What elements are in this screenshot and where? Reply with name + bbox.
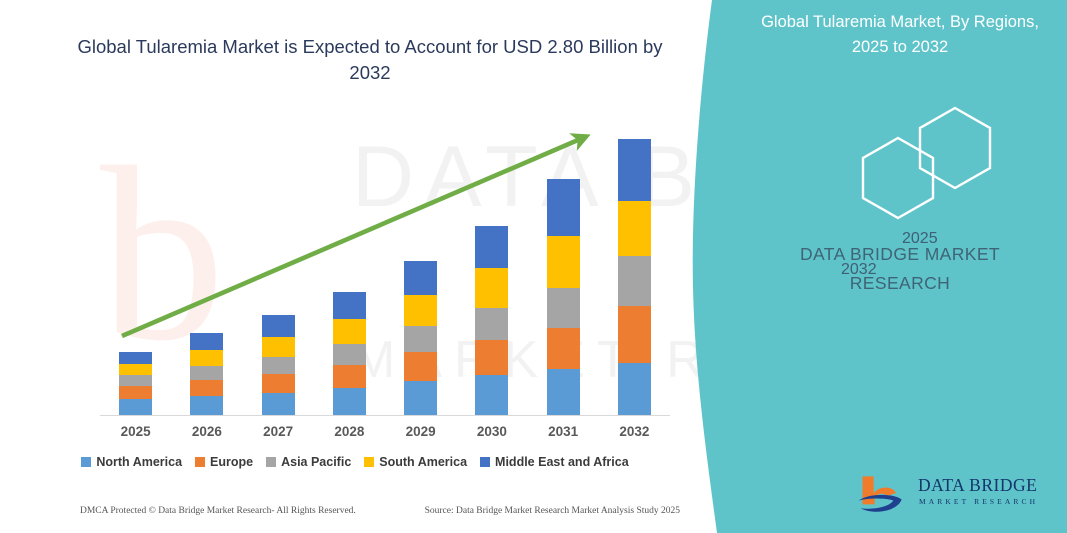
legend-label: North America (96, 455, 182, 469)
hexagon-pair: 2025 2032 (750, 100, 1050, 230)
stacked-bar-series (100, 120, 670, 415)
bar-segment[interactable] (404, 381, 437, 415)
legend-swatch-icon (364, 457, 374, 467)
x-axis-labels: 20252026202720282029203020312032 (100, 424, 670, 439)
legend-item[interactable]: Asia Pacific (266, 455, 351, 469)
bar-segment[interactable] (618, 363, 651, 415)
legend-item[interactable]: North America (81, 455, 182, 469)
x-axis-label-2030: 2030 (464, 424, 520, 439)
legend-swatch-icon (480, 457, 490, 467)
bar-segment[interactable] (547, 328, 580, 369)
bar-segment[interactable] (333, 344, 366, 365)
bar-segment[interactable] (262, 337, 295, 357)
bar-segment[interactable] (262, 393, 295, 415)
bar-segment[interactable] (333, 292, 366, 319)
bar-segment[interactable] (404, 295, 437, 326)
bar-segment[interactable] (547, 236, 580, 288)
bar-segment[interactable] (190, 350, 223, 366)
bar-segment[interactable] (262, 374, 295, 393)
panel-title: Global Tularemia Market, By Regions, 202… (745, 10, 1055, 60)
bar-segment[interactable] (119, 364, 152, 375)
bar-2029[interactable] (404, 261, 437, 415)
bar-segment[interactable] (190, 396, 223, 415)
bar-2025[interactable] (119, 352, 152, 415)
x-axis-label-2028: 2028 (321, 424, 377, 439)
bar-segment[interactable] (119, 375, 152, 386)
brand-logo-subtitle: MARKET RESEARCH (919, 497, 1038, 506)
bar-segment[interactable] (404, 352, 437, 381)
bar-2028[interactable] (333, 292, 366, 415)
bar-segment[interactable] (262, 315, 295, 337)
bar-segment[interactable] (119, 399, 152, 415)
bar-segment[interactable] (475, 340, 508, 375)
bar-segment[interactable] (404, 326, 437, 352)
bar-segment[interactable] (475, 375, 508, 415)
legend-swatch-icon (266, 457, 276, 467)
bar-segment[interactable] (618, 256, 651, 306)
infographic-canvas: b DATA BRIDGE MARKET RESEARCH Global Tul… (0, 0, 1067, 533)
bar-segment[interactable] (475, 226, 508, 268)
brand-tagline: DATA BRIDGE MARKET RESEARCH (760, 240, 1040, 298)
x-axis-line (100, 415, 670, 416)
bar-segment[interactable] (547, 369, 580, 415)
x-axis-label-2031: 2031 (535, 424, 591, 439)
legend-swatch-icon (81, 457, 91, 467)
bar-segment[interactable] (119, 386, 152, 399)
x-axis-label-2032: 2032 (606, 424, 662, 439)
legend-item[interactable]: Middle East and Africa (480, 455, 629, 469)
bar-segment[interactable] (190, 333, 223, 350)
footer: DMCA Protected © Data Bridge Market Rese… (80, 506, 680, 516)
bar-2032[interactable] (618, 139, 651, 415)
bar-2026[interactable] (190, 333, 223, 415)
bar-2027[interactable] (262, 315, 295, 415)
teal-panel-content: Global Tularemia Market, By Regions, 202… (760, 0, 1067, 533)
x-axis-label-2029: 2029 (393, 424, 449, 439)
bar-segment[interactable] (547, 179, 580, 236)
legend-item[interactable]: South America (364, 455, 467, 469)
x-axis-label-2025: 2025 (108, 424, 164, 439)
legend-label: Asia Pacific (281, 455, 351, 469)
bar-segment[interactable] (547, 288, 580, 328)
bar-segment[interactable] (119, 352, 152, 364)
brand-logo: DATA BRIDGE MARKET RESEARCH (855, 472, 1055, 524)
chart-plot-area (100, 120, 670, 416)
legend-item[interactable]: Europe (195, 455, 253, 469)
bar-segment[interactable] (618, 201, 651, 256)
legend-label: South America (379, 455, 467, 469)
legend-label: Europe (210, 455, 253, 469)
bar-segment[interactable] (190, 380, 223, 396)
bar-segment[interactable] (190, 366, 223, 380)
hexagon-outlines-icon (750, 100, 1050, 230)
page-title: Global Tularemia Market is Expected to A… (60, 34, 680, 86)
bar-segment[interactable] (262, 357, 295, 374)
bar-2030[interactable] (475, 226, 508, 415)
copyright-text: DMCA Protected © Data Bridge Market Rese… (80, 506, 356, 516)
bar-segment[interactable] (618, 139, 651, 201)
source-text: Source: Data Bridge Market Research Mark… (425, 506, 680, 516)
chart-legend: North AmericaEuropeAsia PacificSouth Ame… (0, 455, 710, 469)
bar-segment[interactable] (333, 388, 366, 415)
bar-segment[interactable] (475, 268, 508, 308)
bar-segment[interactable] (618, 306, 651, 363)
x-axis-label-2027: 2027 (250, 424, 306, 439)
bar-2031[interactable] (547, 179, 580, 415)
data-bridge-mark-icon (855, 472, 911, 518)
bar-segment[interactable] (333, 319, 366, 344)
legend-label: Middle East and Africa (495, 455, 629, 469)
x-axis-label-2026: 2026 (179, 424, 235, 439)
bar-segment[interactable] (333, 365, 366, 388)
legend-swatch-icon (195, 457, 205, 467)
chart-panel: Global Tularemia Market is Expected to A… (0, 0, 710, 533)
bar-segment[interactable] (475, 308, 508, 340)
brand-logo-name: DATA BRIDGE (918, 475, 1037, 496)
bar-segment[interactable] (404, 261, 437, 295)
